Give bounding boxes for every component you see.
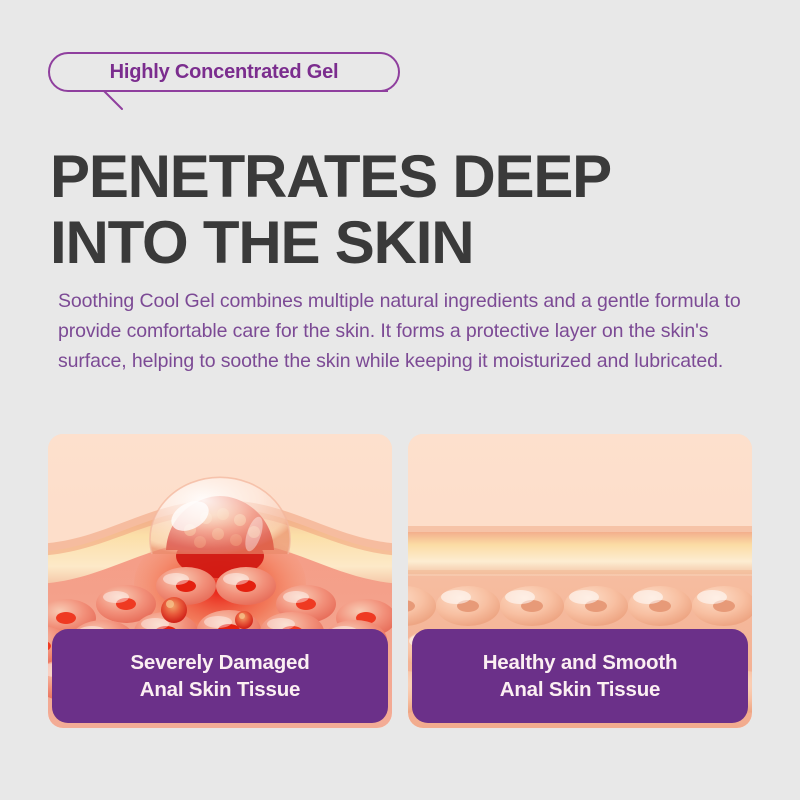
comparison-panels: Severely Damaged Anal Skin Tissue	[48, 434, 752, 728]
highly-concentrated-gel-badge: Highly Concentrated Gel	[48, 52, 408, 108]
badge-speech-tail-icon	[48, 88, 408, 110]
caption-damaged-line-1: Severely Damaged	[130, 649, 309, 676]
headline-line-1: PENETRATES DEEP	[50, 144, 750, 210]
badge-pill: Highly Concentrated Gel	[48, 52, 400, 92]
badge-label: Highly Concentrated Gel	[110, 61, 339, 84]
caption-damaged-line-2: Anal Skin Tissue	[140, 676, 300, 703]
caption-healthy-line-2: Anal Skin Tissue	[500, 676, 660, 703]
caption-healthy-line-1: Healthy and Smooth	[483, 649, 678, 676]
panel-damaged-skin: Severely Damaged Anal Skin Tissue	[48, 434, 392, 728]
panel-healthy-skin: Healthy and Smooth Anal Skin Tissue	[408, 434, 752, 728]
body-paragraph: Soothing Cool Gel combines multiple natu…	[58, 286, 752, 376]
caption-healthy: Healthy and Smooth Anal Skin Tissue	[412, 629, 748, 723]
headline-line-2: INTO THE SKIN	[50, 210, 750, 276]
page-title: PENETRATES DEEP INTO THE SKIN	[50, 144, 750, 276]
caption-damaged: Severely Damaged Anal Skin Tissue	[52, 629, 388, 723]
